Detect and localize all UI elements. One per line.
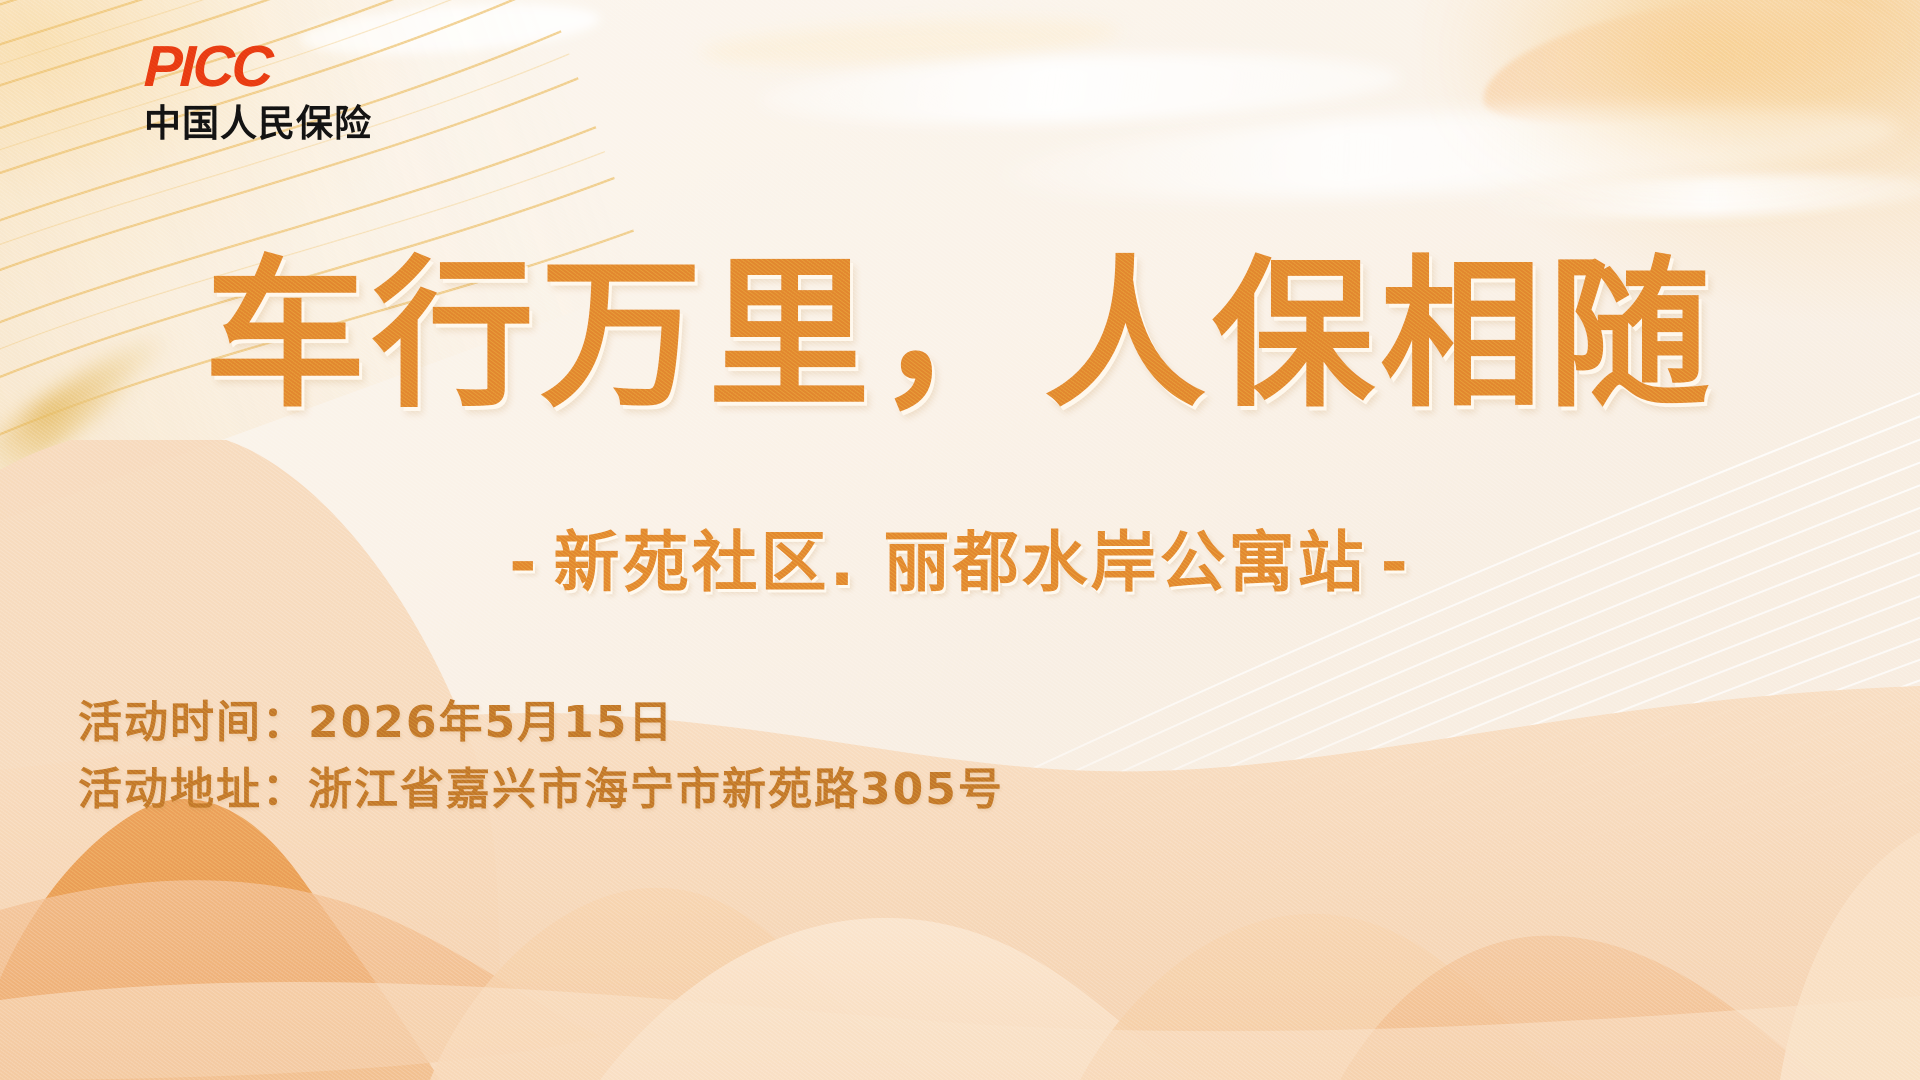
paper-texture-overlay bbox=[0, 0, 1920, 1080]
promo-banner: PICC 中国人民保险 车行万里，人保相随 -新苑社区. 丽都水岸公寓站- 活动… bbox=[0, 0, 1920, 1080]
